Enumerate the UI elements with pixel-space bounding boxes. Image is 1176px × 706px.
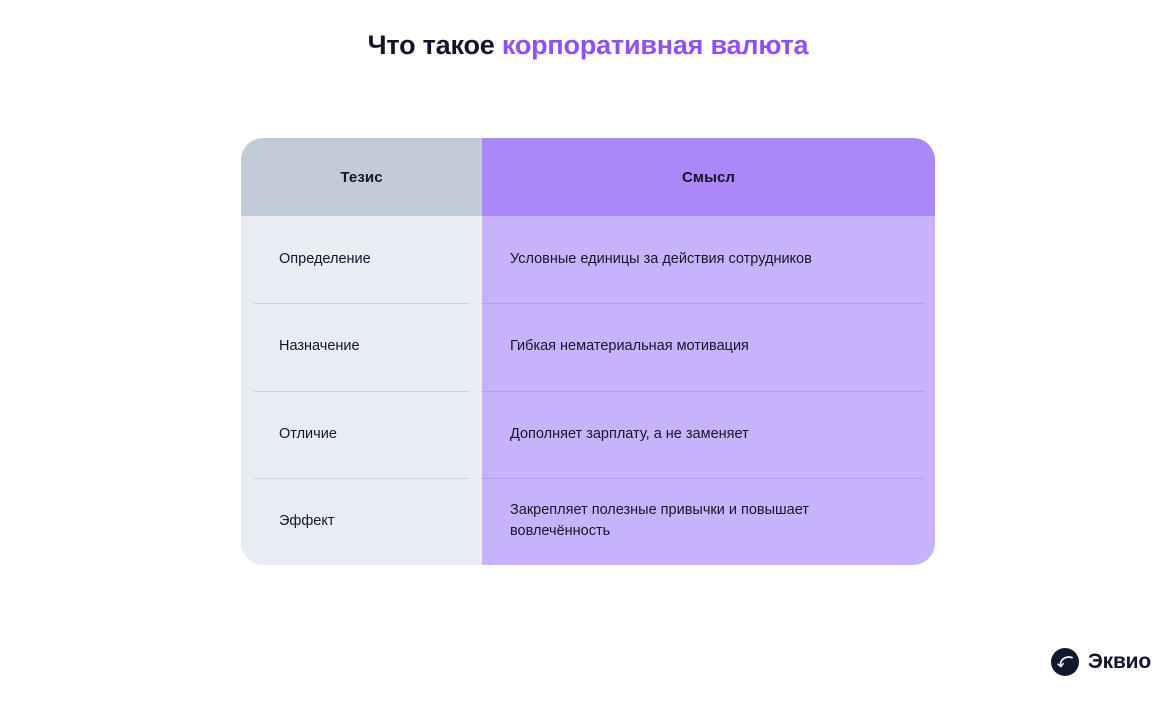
page-title-plain: Что такое — [368, 30, 502, 60]
cell-meaning: Условные единицы за действия сотрудников — [510, 249, 812, 270]
table-row: Условные единицы за действия сотрудников — [482, 216, 935, 303]
table-row: Закрепляет полезные привычки и повышает … — [482, 478, 935, 565]
comparison-table: Тезис Смысл Определение Назначение Отлич… — [241, 138, 935, 565]
brand-name: Эквио — [1088, 650, 1151, 674]
page-title: Что такое корпоративная валюта — [0, 30, 1176, 61]
cell-thesis: Отличие — [279, 424, 337, 445]
ekvio-circle-arrow-icon — [1051, 648, 1079, 676]
cell-thesis: Эффект — [279, 511, 335, 532]
table-row: Назначение — [241, 303, 482, 390]
table-column-thesis: Определение Назначение Отличие Эффект — [241, 216, 482, 565]
table-row: Дополняет зарплату, а не заменяет — [482, 391, 935, 478]
table-header-meaning: Смысл — [482, 138, 935, 216]
cell-meaning: Гибкая нематериальная мотивация — [510, 336, 749, 357]
table-row: Эффект — [241, 478, 482, 565]
page-title-accent: корпоративная валюта — [502, 30, 809, 60]
cell-thesis: Определение — [279, 249, 371, 270]
table-column-meaning: Условные единицы за действия сотрудников… — [482, 216, 935, 565]
cell-thesis: Назначение — [279, 336, 360, 357]
table-row: Гибкая нематериальная мотивация — [482, 303, 935, 390]
brand-logo: Эквио — [1051, 648, 1151, 676]
table-row: Определение — [241, 216, 482, 303]
cell-meaning: Закрепляет полезные привычки и повышает … — [510, 500, 907, 542]
cell-meaning: Дополняет зарплату, а не заменяет — [510, 424, 749, 445]
table-row: Отличие — [241, 391, 482, 478]
table-header-thesis: Тезис — [241, 138, 482, 216]
